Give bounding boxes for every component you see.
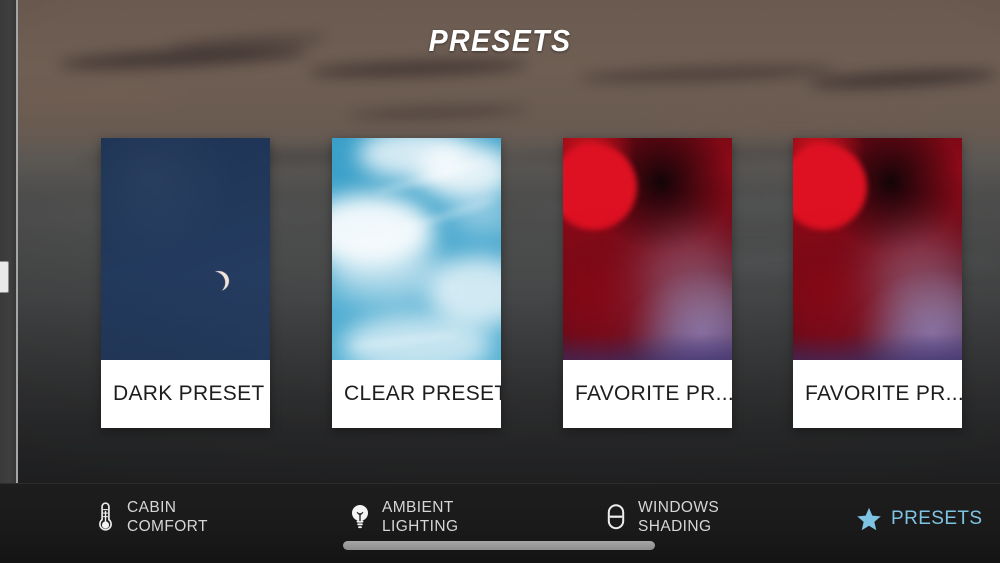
- toolbar-item-label-line2: LIGHTING: [382, 517, 458, 536]
- preset-card[interactable]: FAVORITE PR...: [563, 138, 732, 428]
- bottom-tint: [563, 334, 732, 360]
- toolbar-item-label-line1: CABIN: [127, 499, 176, 516]
- preset-thumbnail: [332, 138, 501, 360]
- preset-card[interactable]: CLEAR PRESET: [332, 138, 501, 428]
- toolbar-item-ambient-lighting[interactable]: AMBIENT LIGHTING: [347, 498, 458, 536]
- toolbar-item-label: WINDOWS SHADING: [638, 498, 719, 536]
- toolbar-item-label: AMBIENT LIGHTING: [382, 498, 458, 536]
- toolbar-item-label-line2: SHADING: [638, 517, 719, 536]
- red-bokeh-art: [793, 138, 962, 360]
- red-glow-dot: [563, 144, 637, 230]
- preset-thumbnail: [563, 138, 732, 360]
- preset-card-label: CLEAR PRESET: [332, 360, 501, 428]
- preset-card-label: DARK PRESET: [101, 360, 270, 428]
- rail-divider: [16, 0, 18, 563]
- drawer-handle[interactable]: [0, 261, 9, 293]
- toolbar-item-label-line1: PRESETS: [891, 508, 983, 529]
- toolbar-item-windows-shading[interactable]: WINDOWS SHADING: [603, 498, 719, 536]
- window-shade-icon: [603, 498, 629, 536]
- toolbar-item-label-line2: COMFORT: [127, 517, 208, 536]
- clear-sky-art: [332, 138, 501, 360]
- page-title: PRESETS: [40, 23, 960, 59]
- thermometer-icon: [92, 498, 118, 536]
- lightbulb-icon: [347, 498, 373, 536]
- brightness-slider[interactable]: [343, 541, 655, 550]
- preset-thumbnail: [793, 138, 962, 360]
- toolbar-items: CABIN COMFORT AMBIENT: [0, 484, 1000, 563]
- preset-thumbnail: [101, 138, 270, 360]
- night-sky-art: [101, 138, 270, 360]
- preset-card[interactable]: DARK PRESET: [101, 138, 270, 428]
- bottom-toolbar: CABIN COMFORT AMBIENT: [0, 483, 1000, 563]
- preset-card-label: FAVORITE PR...: [793, 360, 962, 428]
- preset-card[interactable]: FAVORITE PR...: [793, 138, 962, 428]
- texture-overlay: [101, 138, 270, 360]
- toolbar-item-cabin-comfort[interactable]: CABIN COMFORT: [92, 498, 208, 536]
- toolbar-item-label-line1: AMBIENT: [382, 499, 454, 516]
- toolbar-item-label-line1: WINDOWS: [638, 499, 719, 516]
- star-icon: [856, 500, 882, 538]
- presets-carousel: DARK PRESET CLEAR PRESET: [101, 138, 961, 428]
- red-glow-dot: [793, 144, 867, 230]
- left-rail: [0, 0, 18, 563]
- toolbar-item-label: CABIN COMFORT: [127, 498, 208, 536]
- red-bokeh-art: [563, 138, 732, 360]
- bottom-tint: [793, 334, 962, 360]
- toolbar-item-presets[interactable]: PRESETS: [856, 500, 983, 538]
- app-screen: PRESETS DARK PRESET: [0, 0, 1000, 563]
- toolbar-item-label: PRESETS: [891, 508, 983, 530]
- preset-card-label: FAVORITE PR...: [563, 360, 732, 428]
